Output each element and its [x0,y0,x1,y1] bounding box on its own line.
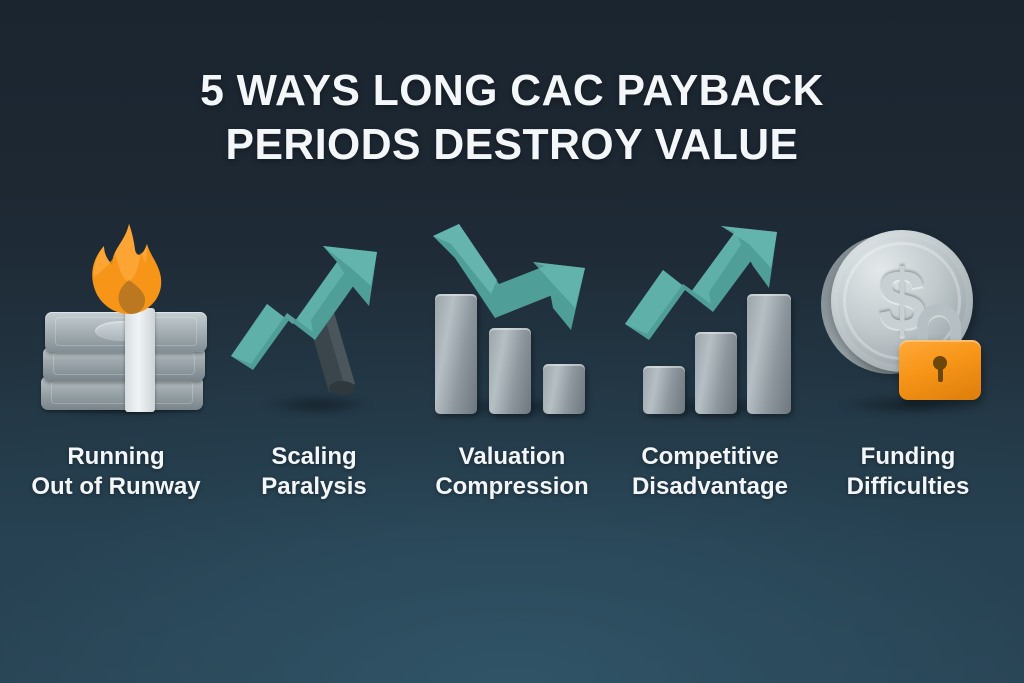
item-label: Valuation Compression [435,442,588,502]
infographic-canvas: 5 WAYS LONG CAC PAYBACK PERIODS DESTROY … [0,0,1024,683]
item-label-line-2: Compression [435,472,588,502]
item-label-line-2: Disadvantage [632,472,788,502]
item-label-line-2: Out of Runway [31,472,200,502]
burning-money-icon [21,218,211,418]
item-label: Scaling Paralysis [261,442,366,502]
page-title-line-2: PERIODS DESTROY VALUE [15,118,1008,172]
item-label-line-1: Scaling [271,443,356,470]
bill-layer [41,376,203,410]
item-label-line-1: Valuation [459,443,566,470]
padlock-body [899,340,981,400]
item-label-line-1: Competitive [641,443,778,470]
padlock-icon [895,304,987,404]
zigzag-up-arrow-with-block [227,228,402,408]
item-running-out-of-runway: Running Out of Runway [18,218,214,502]
teal-arrow [231,246,377,370]
item-label-line-2: Paralysis [261,472,366,502]
bar [543,364,585,414]
bill-frame [51,381,193,404]
coin-with-padlock: $ [819,226,999,411]
item-label: Competitive Disadvantage [632,442,788,502]
declining-bar-chart-icon [417,218,607,418]
bar [643,366,685,414]
item-label: Running Out of Runway [31,442,200,502]
item-valuation-compression: Valuation Compression [414,218,610,502]
teal-up-arrow [619,226,801,356]
money-stack [39,290,205,410]
rising-bar-chart-icon [615,218,805,418]
item-scaling-paralysis: Scaling Paralysis [216,218,412,502]
item-label-line-1: Running [67,443,164,470]
blocked-growth-arrow-icon [219,218,409,418]
item-funding-difficulties: $ Funding Difficulties [810,218,1006,502]
locked-coin-icon: $ [813,218,1003,418]
page-title: 5 WAYS LONG CAC PAYBACK PERIODS DESTROY … [0,64,1024,172]
items-row: Running Out of Runway [0,218,1024,538]
item-label-line-1: Funding [861,443,956,470]
padlock-keyhole [933,356,947,370]
item-label: Funding Difficulties [847,442,970,502]
page-title-line-1: 5 WAYS LONG CAC PAYBACK [15,64,1008,118]
teal-down-arrow [425,222,605,352]
bill-frame [53,352,195,375]
money-band [125,308,155,412]
item-label-line-2: Difficulties [847,472,970,502]
bill-layer [43,347,205,381]
item-competitive-disadvantage: Competitive Disadvantage [612,218,808,502]
flame-icon [85,222,165,318]
